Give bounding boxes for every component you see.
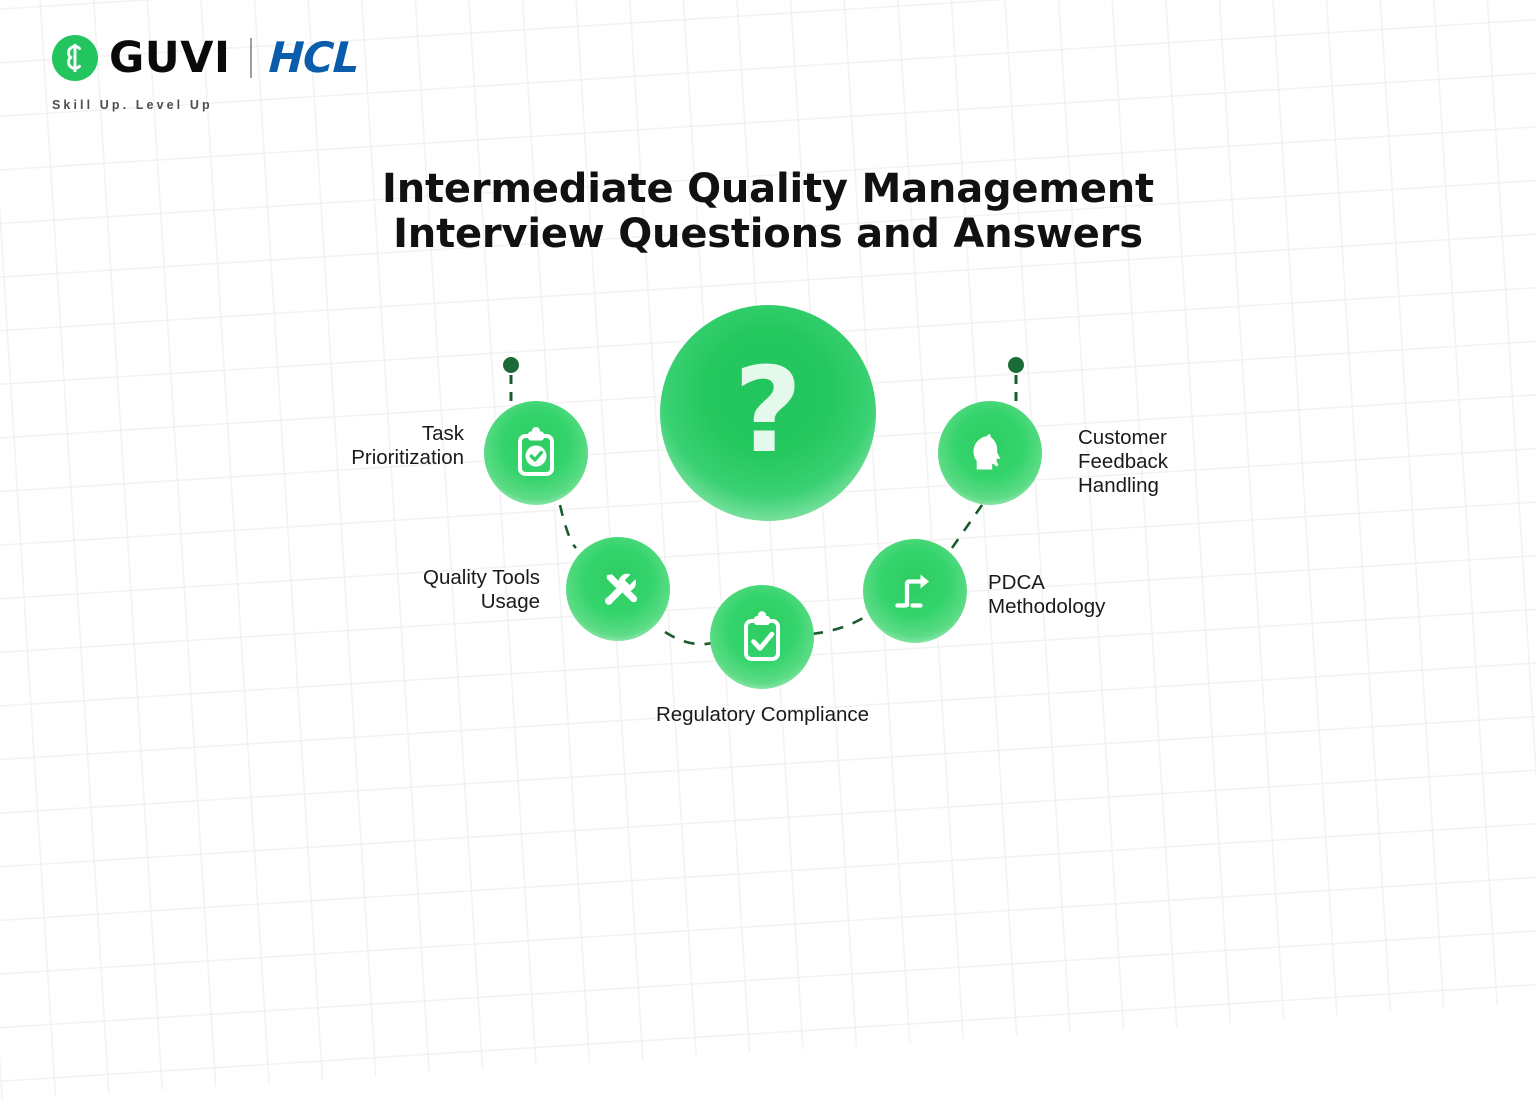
- label-task-prioritization: Task Prioritization: [254, 422, 464, 470]
- label-pdca-methodology: PDCA Methodology: [988, 571, 1238, 619]
- bubble-quality-tools-usage[interactable]: [566, 537, 670, 641]
- connector-pdca-to-feedback: [952, 505, 982, 548]
- bubble-regulatory-compliance[interactable]: [710, 585, 814, 689]
- bubble-pdca-methodology[interactable]: [863, 539, 967, 643]
- bubble-customer-feedback-handling[interactable]: [938, 401, 1042, 505]
- question-mark-icon: ?: [734, 351, 802, 469]
- clipboard-check-circle-icon: [509, 426, 563, 480]
- concept-diagram: ? Task Prioritization Quality Tools Usag…: [0, 0, 1536, 806]
- headset-profile-icon: [962, 425, 1018, 481]
- stem-dot-task: [503, 357, 519, 373]
- connector-task-to-tools: [560, 505, 576, 548]
- hub-question-bubble[interactable]: ?: [660, 305, 876, 521]
- label-regulatory-compliance: Regulatory Compliance: [625, 703, 900, 727]
- label-quality-tools-usage: Quality Tools Usage: [300, 566, 540, 614]
- wrench-screwdriver-icon: [591, 562, 645, 616]
- connector-compliance-to-pdca: [812, 615, 868, 634]
- turn-right-arrow-icon: [887, 563, 943, 619]
- clipboard-check-icon: [734, 609, 790, 665]
- stem-dot-feedback: [1008, 357, 1024, 373]
- bubble-task-prioritization[interactable]: [484, 401, 588, 505]
- label-customer-feedback-handling: Customer Feedback Handling: [1078, 426, 1328, 497]
- connector-tools-to-compliance: [665, 632, 712, 644]
